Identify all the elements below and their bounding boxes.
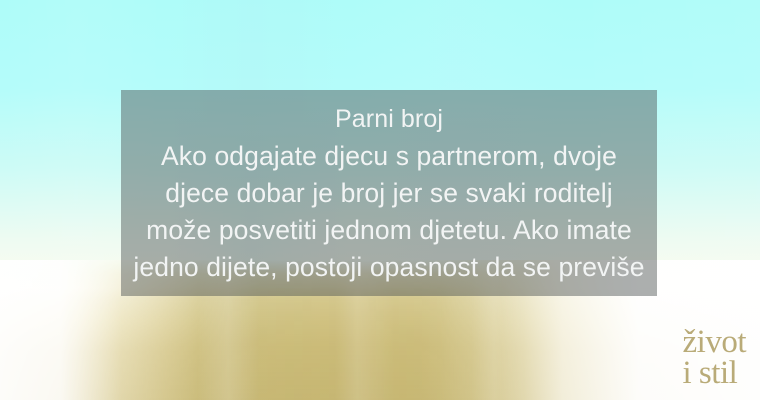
caption-body-line-3: može posvetiti jednom djetetu. Ako imate bbox=[121, 212, 657, 249]
caption-title: Parni broj bbox=[121, 101, 657, 138]
caption-overlay-panel: Parni broj Ako odgajate djecu s partnero… bbox=[121, 90, 657, 296]
caption-body-line-4: jedno dijete, postoji opasnost da se pre… bbox=[121, 249, 657, 286]
brand-logo-line-2: i stil bbox=[683, 358, 746, 388]
caption-body-line-2: djece dobar je broj jer se svaki roditel… bbox=[121, 175, 657, 212]
brand-logo-line-1: život bbox=[683, 327, 746, 357]
image-canvas: Parni broj Ako odgajate djecu s partnero… bbox=[0, 0, 760, 400]
brand-logo: život i stil bbox=[683, 327, 746, 388]
caption-body-line-1: Ako odgajate djecu s partnerom, dvoje bbox=[121, 138, 657, 175]
